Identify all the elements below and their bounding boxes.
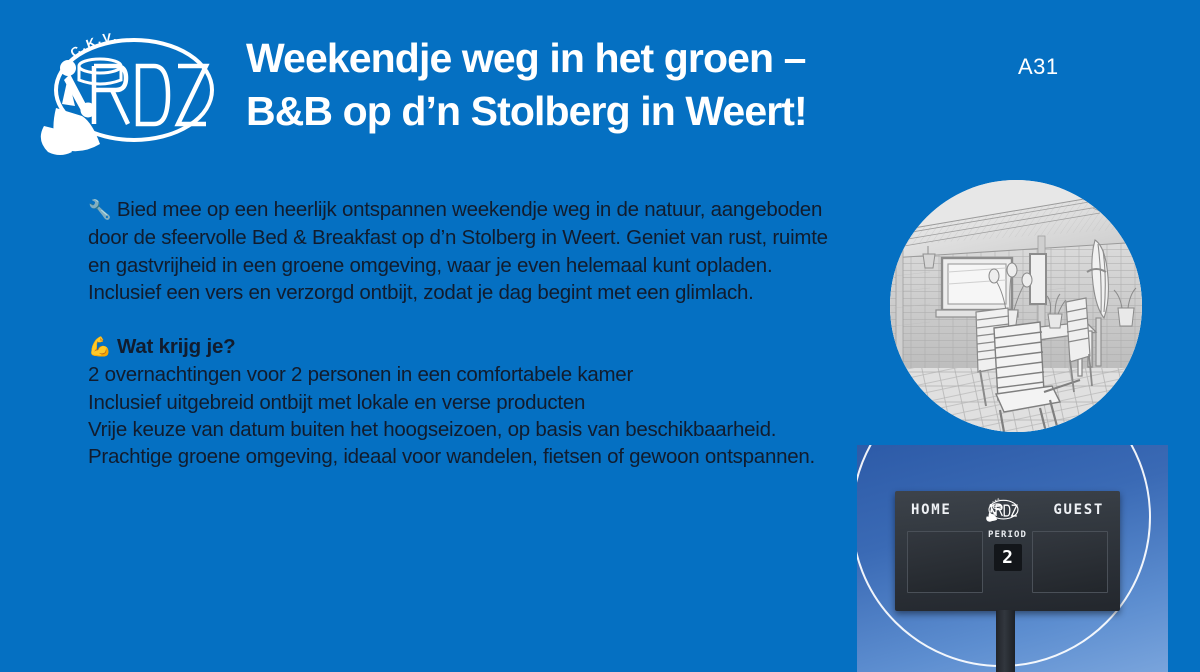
- paragraph-spacer: [88, 306, 848, 333]
- guest-label: GUEST: [1053, 502, 1104, 518]
- scoreboard-photo: HOME C.K.V.: [857, 445, 1168, 672]
- list-item: Prachtige groene omgeving, ideaal voor w…: [88, 443, 848, 470]
- list-item: 2 overnachtingen voor 2 personen in een …: [88, 361, 848, 388]
- page-header: C . K . V .: [0, 0, 1200, 172]
- period-value-box: 2: [994, 544, 1022, 571]
- list-item: Vrije keuze van datum buiten het hoogsei…: [88, 416, 848, 443]
- home-score-display: [907, 531, 983, 593]
- title-line-2: B&B op d’n Stolberg in Weert!: [246, 85, 886, 138]
- scoreboard-panel: HOME C.K.V.: [895, 491, 1120, 611]
- title-line-1: Weekendje weg in het groen –: [246, 32, 886, 85]
- home-label: HOME: [911, 502, 952, 518]
- rdz-korfball-logo-icon: C . K . V .: [26, 22, 226, 162]
- flexed-biceps-icon: 💪: [88, 337, 111, 358]
- page-title: Weekendje weg in het groen – B&B op d’n …: [246, 32, 886, 138]
- scoreboard-pole: [996, 610, 1015, 672]
- svg-text:V: V: [102, 30, 113, 46]
- period-value: 2: [1002, 549, 1013, 567]
- scoreboard-header-row: HOME C.K.V.: [895, 491, 1120, 529]
- rdz-korfball-logo-icon: C.K.V.: [979, 497, 1025, 523]
- benefits-heading: 💪 Wat krijg je?: [88, 333, 848, 361]
- intro-paragraph: 🔧 Bied mee op een heerlijk ontspannen we…: [88, 196, 848, 306]
- svg-text:C.K.V.: C.K.V.: [992, 497, 1001, 504]
- svg-text:.: .: [113, 29, 117, 44]
- korf-basket-icon: [79, 59, 121, 84]
- lot-image-circle: [890, 180, 1142, 432]
- period-display: PERIOD 2: [987, 530, 1028, 571]
- terrace-sketch-illustration: [890, 180, 1142, 432]
- lot-code-badge: A31: [1018, 54, 1059, 80]
- scoreboard-logo: C.K.V.: [979, 497, 1025, 523]
- benefits-heading-text: Wat krijg je?: [117, 335, 236, 358]
- club-logo: C . K . V .: [26, 22, 226, 162]
- player-figures-icon: [41, 60, 100, 155]
- wrench-icon: 🔧: [88, 200, 111, 221]
- lot-description: 🔧 Bied mee op een heerlijk ontspannen we…: [88, 196, 848, 471]
- period-label: PERIOD: [987, 530, 1028, 540]
- intro-paragraph-text: Bied mee op een heerlijk ontspannen week…: [88, 198, 828, 304]
- list-item: Inclusief uitgebreid ontbijt met lokale …: [88, 389, 848, 416]
- guest-score-display: [1032, 531, 1108, 593]
